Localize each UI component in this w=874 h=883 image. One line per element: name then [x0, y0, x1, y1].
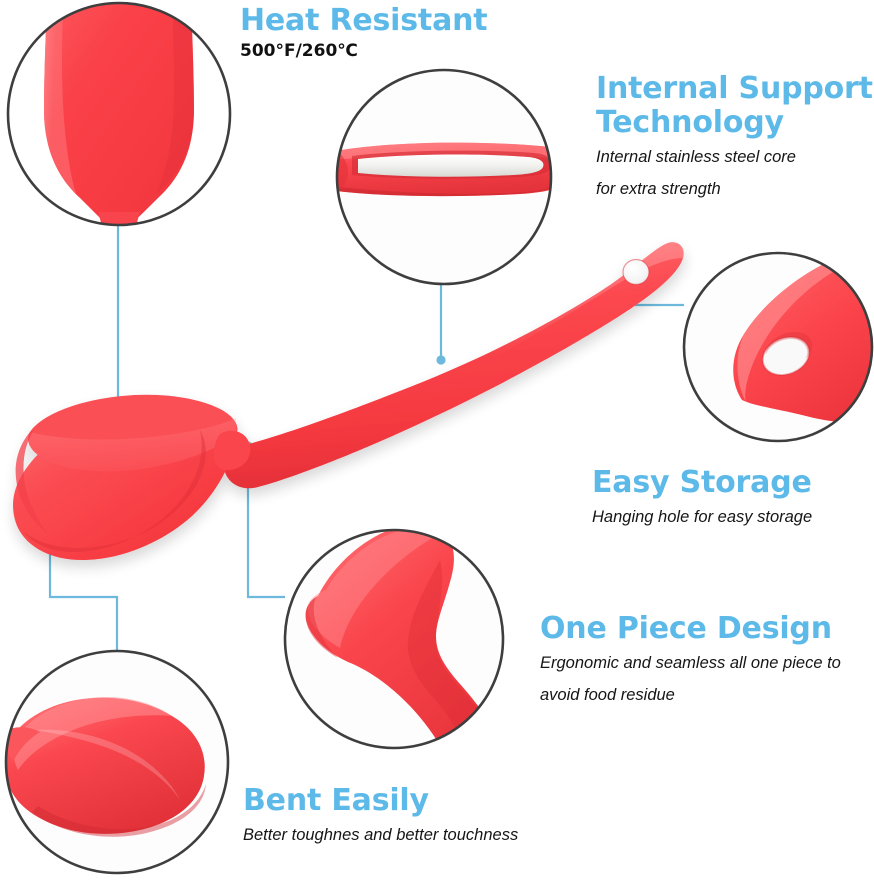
- feature-title-heat-resistant: Heat Resistant: [240, 4, 487, 38]
- callout-image-bent-blade: [4, 649, 234, 879]
- feature-subtitle-easy-storage-line1: Hanging hole for easy storage: [592, 502, 812, 532]
- feature-temperature-value: 500°F/260℃: [240, 41, 487, 61]
- callout-image-one-piece: [283, 525, 505, 768]
- feature-subtitle-internal-support-line1: Internal stainless steel core: [596, 142, 874, 172]
- feature-subtitle-one-piece-line2: avoid food residue: [540, 680, 841, 710]
- feature-subtitle-bent-easily-line1: Better toughnes and better touchness: [243, 820, 518, 850]
- feature-block-internal-support: Internal Support Technology Internal sta…: [596, 72, 874, 204]
- callout-image-hanging-hole: [683, 250, 874, 444]
- feature-title-one-piece-design: One Piece Design: [540, 612, 841, 646]
- feature-title-internal-support: Internal Support Technology: [596, 72, 874, 140]
- feature-subtitle-internal-support-line2: for extra strength: [596, 174, 874, 204]
- feature-block-easy-storage: Easy Storage Hanging hole for easy stora…: [592, 466, 812, 532]
- feature-block-heat-resistant: Heat Resistant 500°F/260℃: [240, 4, 487, 61]
- feature-title-bent-easily: Bent Easily: [243, 784, 518, 818]
- feature-title-easy-storage: Easy Storage: [592, 466, 812, 500]
- main-spatula-graphic: [13, 242, 684, 560]
- feature-block-bent-easily: Bent Easily Better toughnes and better t…: [243, 784, 518, 850]
- feature-block-one-piece-design: One Piece Design Ergonomic and seamless …: [540, 612, 841, 710]
- feature-subtitle-one-piece-line1: Ergonomic and seamless all one piece to: [540, 648, 841, 678]
- callout-image-spatula-head: [4, 0, 236, 252]
- infographic-canvas: Heat Resistant 500°F/260℃ Internal Suppo…: [0, 0, 874, 883]
- callout-image-steel-core: [330, 69, 576, 287]
